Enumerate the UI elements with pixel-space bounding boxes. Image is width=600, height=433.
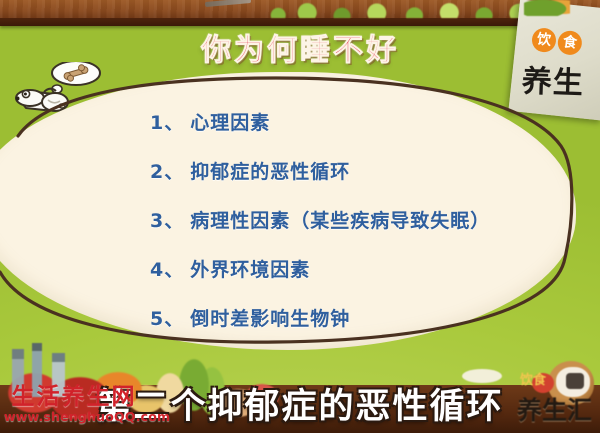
list-item-label: 抑郁症的恶性循环: [190, 157, 350, 184]
list-item-label: 倒时差影响生物钟: [190, 304, 350, 331]
list-item-number: 3、: [150, 206, 184, 233]
list-item: 1、 心理因素: [150, 108, 570, 135]
list-item-number: 5、: [150, 304, 184, 331]
brand-oval-decor: [462, 369, 502, 383]
green-vegetables: [255, 0, 545, 18]
brand-logo: 饮食 养生汇: [490, 357, 598, 429]
list-item: 3、 病理性因素（某些疾病导致失眠）: [150, 206, 570, 233]
leaf-decor-icon: [524, 0, 570, 16]
watermark-url: www.shenghuoQQ.com: [4, 411, 144, 424]
video-frame: 饮 食 养生: [0, 0, 600, 433]
list-item-label: 病理性因素（某些疾病导致失眠）: [190, 206, 490, 233]
watermark: 生活养生网 www.shenghuoQQ.com: [4, 385, 144, 424]
brand-kicker-text: 饮食: [520, 369, 546, 388]
watermark-site-name: 生活养生网: [4, 385, 144, 408]
list-item: 4、 外界环境因素: [150, 255, 570, 282]
list-item-number: 2、: [150, 157, 184, 184]
brand-face-detail-icon: [566, 373, 584, 389]
list-item-number: 4、: [150, 255, 184, 282]
list-item-label: 外界环境因素: [190, 255, 310, 282]
list-item-number: 1、: [150, 108, 184, 135]
list-item: 5、 倒时差影响生物钟: [150, 304, 570, 331]
shelf-edge: [0, 18, 600, 26]
brand-name-text: 养生汇: [517, 391, 592, 427]
list-item: 2、 抑郁症的恶性循环: [150, 157, 570, 184]
page-title: 你为何睡不好: [0, 36, 600, 66]
reason-list: 1、 心理因素 2、 抑郁症的恶性循环 3、 病理性因素（某些疾病导致失眠） 4…: [150, 108, 570, 353]
list-item-label: 心理因素: [190, 108, 270, 135]
